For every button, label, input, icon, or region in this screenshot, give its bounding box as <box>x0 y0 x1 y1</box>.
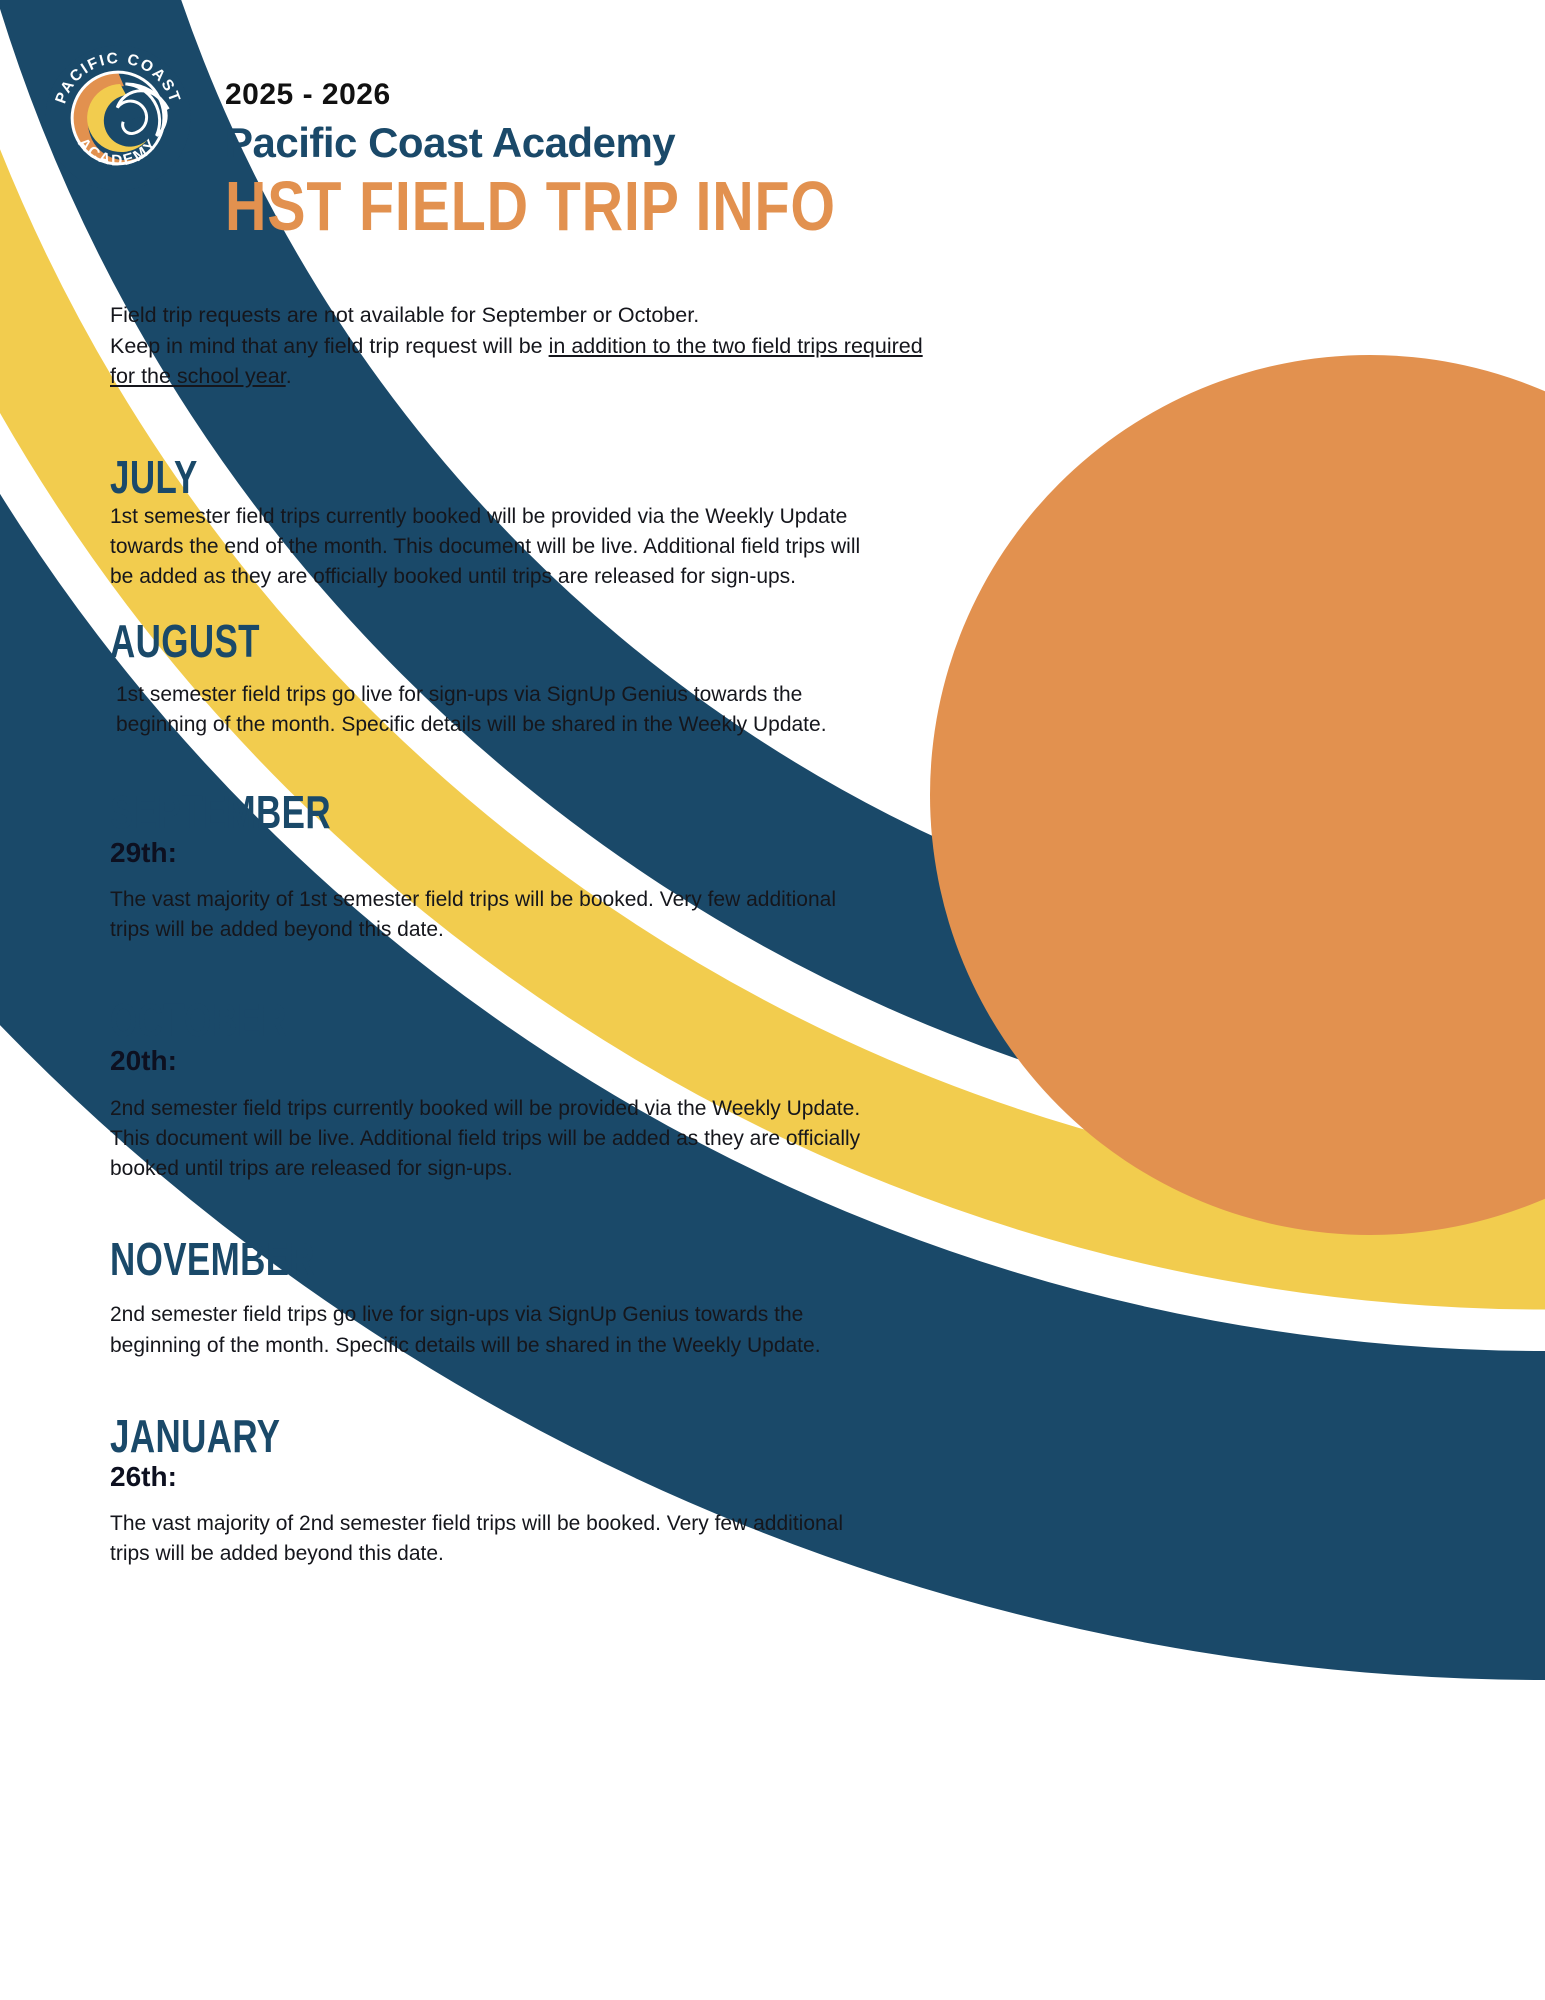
section-august: AUGUST 1st semester field trips go live … <box>0 618 960 740</box>
intro-line-2-suffix: . <box>286 364 292 388</box>
month-body-october: 2nd semester field trips currently booke… <box>110 1094 870 1185</box>
month-body-november: 2nd semester field trips go live for sig… <box>110 1300 870 1360</box>
month-body-january: The vast majority of 2nd semester field … <box>110 1509 870 1569</box>
section-november: NOVEMBER 2nd semester field trips go liv… <box>0 1236 960 1360</box>
section-october: OCTOBER 20th: 2nd semester field trips c… <box>0 997 960 1184</box>
month-body-september: The vast majority of 1st semester field … <box>110 885 870 945</box>
month-heading-november: NOVEMBER <box>110 1236 756 1282</box>
poster-content: Field trip requests are not available fo… <box>0 300 960 1575</box>
page-title: HST FIELD TRIP INFO <box>225 171 766 241</box>
header-text-block: 2025 - 2026 Pacific Coast Academy HST FI… <box>225 78 885 241</box>
month-day-january: 26th: <box>110 1461 960 1493</box>
orange-accent-circle <box>930 355 1545 1235</box>
month-heading-september: SEPTEMBER <box>110 789 756 835</box>
month-heading-october: OCTOBER <box>110 997 756 1043</box>
intro-paragraph: Field trip requests are not available fo… <box>110 300 940 392</box>
month-day-october: 20th: <box>110 1045 960 1077</box>
month-heading-july: JULY <box>110 454 756 500</box>
month-sections: JULY 1st semester field trips currently … <box>0 454 960 1570</box>
intro-line-1: Field trip requests are not available fo… <box>110 303 699 327</box>
section-september: SEPTEMBER 29th: The vast majority of 1st… <box>0 789 960 946</box>
month-heading-january: JANUARY <box>110 1413 756 1459</box>
school-year: 2025 - 2026 <box>225 78 885 111</box>
school-name: Pacific Coast Academy <box>225 121 885 165</box>
section-july: JULY 1st semester field trips currently … <box>0 454 960 593</box>
month-heading-august: AUGUST <box>110 618 756 664</box>
month-day-september: 29th: <box>110 837 960 869</box>
month-body-july: 1st semester field trips currently booke… <box>110 502 870 593</box>
logo-icon: PACIFIC COAST ACADEMY <box>44 44 192 192</box>
poster-page: PACIFIC COAST ACADEMY 2025 - 2026 Pacifi… <box>0 0 1545 2000</box>
section-january: JANUARY 26th: The vast majority of 2nd s… <box>0 1413 960 1570</box>
poster-header: PACIFIC COAST ACADEMY 2025 - 2026 Pacifi… <box>0 0 900 300</box>
intro-line-2-prefix: Keep in mind that any field trip request… <box>110 334 549 358</box>
month-body-august: 1st semester field trips go live for sig… <box>116 680 876 740</box>
